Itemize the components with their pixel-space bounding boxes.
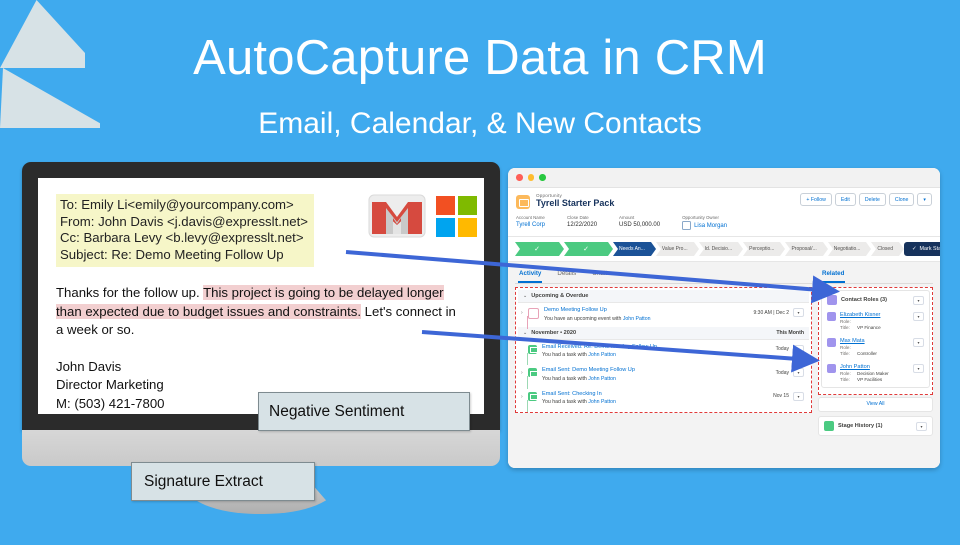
path-stage-6[interactable]: Perceptio... [743, 242, 780, 256]
activity-subtitle-link[interactable]: John Patton [588, 352, 616, 358]
owner-avatar-icon [682, 221, 691, 230]
window-maximize-dot[interactable] [539, 174, 546, 181]
calendar-icon [528, 308, 539, 319]
path-stage-label: ✓ [534, 245, 540, 253]
contact-name[interactable]: Max Mata [840, 338, 913, 345]
related-column: Related Contact Roles (3) ▾ [818, 267, 933, 440]
email-cc-line: Cc: Barbara Levy <b.levy@expresslt.net> [60, 230, 308, 247]
email-body: Thanks for the follow up. This project i… [56, 284, 456, 340]
record-main: Activity Details Chatter ⌄ Upcoming & Ov… [508, 262, 940, 440]
activity-subtitle-link[interactable]: John Patton [588, 399, 616, 405]
activity-subtitle-prefix: You have an upcoming event with [544, 316, 623, 322]
field-amount: Amount USD 50,000.00 [619, 215, 660, 230]
path-stage-label: Proposal/... [791, 246, 816, 252]
chevron-right-icon[interactable]: › [521, 391, 527, 400]
follow-button[interactable]: + Follow [800, 193, 831, 206]
mark-stage-complete-label: Mark Stage as Complete [920, 246, 940, 252]
field-close-date: Close Date 12/22/2020 [567, 215, 597, 230]
tab-activity[interactable]: Activity [518, 267, 542, 283]
chevron-right-icon[interactable]: › [521, 367, 527, 376]
window-titlebar [508, 168, 940, 188]
activity-section-november[interactable]: ⌄ November • 2020 This Month [518, 327, 809, 340]
activity-title[interactable]: Demo Meeting Follow Up [544, 307, 651, 314]
email-subject-line: Subject: Re: Demo Meeting Follow Up [60, 247, 308, 264]
path-stage-8[interactable]: Negotiatio... [828, 242, 867, 256]
row-menu-icon[interactable]: ▾ [793, 308, 804, 317]
path-stage-label: ✓ [583, 245, 589, 253]
activity-timestamp: Today [776, 346, 789, 352]
contact-row[interactable]: Max Mata Role: Title:Controller ▾ [822, 335, 929, 361]
ms-square-red [436, 196, 455, 215]
chevron-right-icon[interactable] [521, 344, 527, 347]
path-stage-label: Negotiatio... [834, 246, 861, 252]
signature-name: John Davis [56, 358, 466, 377]
contact-roles-highlight-box: Contact Roles (3) ▾ Elizabeth Kisner Rol… [818, 287, 933, 395]
opportunity-icon [516, 195, 530, 209]
microsoft-icon [436, 196, 477, 237]
contact-name[interactable]: Elizabeth Kisner [840, 312, 913, 319]
card-menu-icon[interactable]: ▾ [913, 296, 924, 305]
page-title: AutoCapture Data in CRM [0, 30, 960, 86]
negative-sentiment-callout: Negative Sentiment [258, 392, 470, 431]
view-all-card: View All [818, 397, 933, 412]
chevron-down-icon: ⌄ [523, 293, 527, 299]
path-stage-label: Needs An... [619, 246, 645, 252]
stage-history-title: Stage History (1) [838, 423, 882, 429]
contact-roles-card: Contact Roles (3) ▾ Elizabeth Kisner Rol… [821, 290, 930, 388]
contact-title-label: Title: [840, 351, 857, 357]
slide-canvas: AutoCapture Data in CRM Email, Calendar,… [0, 0, 960, 545]
activity-title[interactable]: Email Sent: Checking In [542, 391, 616, 398]
email-body-text-1: Thanks for the follow up. [56, 285, 203, 300]
contact-icon [827, 312, 836, 321]
row-menu-icon[interactable]: ▾ [913, 312, 924, 321]
chevron-down-icon: ⌄ [523, 330, 527, 336]
activity-subtitle-prefix: You had a task with [542, 376, 588, 382]
email-to-line: To: Emily Li<emily@yourcompany.com> [60, 197, 308, 214]
contact-name[interactable]: John Patton [840, 364, 913, 371]
card-menu-icon[interactable]: ▾ [916, 422, 927, 431]
activity-title[interactable]: Email Received: Re: Demo Meeting Follow … [542, 344, 657, 351]
record-header: Opportunity Tyrell Starter Pack + Follow… [508, 188, 940, 237]
row-menu-icon[interactable]: ▾ [913, 338, 924, 347]
activity-title[interactable]: Email Sent: Demo Meeting Follow Up [542, 367, 635, 374]
stage-history-header[interactable]: Stage History (1) ▾ [819, 417, 932, 435]
tab-chatter[interactable]: Chatter [591, 267, 613, 283]
path-stage-5[interactable]: Id. Decisio... [699, 242, 739, 256]
monitor-chin [22, 430, 500, 466]
more-actions-button[interactable]: ▾ [917, 193, 932, 206]
field-value[interactable]: Lisa Morgan [694, 222, 727, 230]
contact-roles-header[interactable]: Contact Roles (3) ▾ [822, 291, 929, 309]
section-right-label: This Month [776, 330, 804, 336]
activity-item[interactable]: › Demo Meeting Follow Up You have an upc… [518, 303, 809, 327]
page-subtitle: Email, Calendar, & New Contacts [0, 107, 960, 141]
salesforce-body: Opportunity Tyrell Starter Pack + Follow… [508, 188, 940, 468]
monitor-bezel: To: Emily Li<emily@yourcompany.com> From… [22, 162, 500, 430]
path-stage-label: Id. Decisio... [705, 246, 733, 252]
related-tabs: Related [818, 267, 933, 284]
path-stage-label: Closed [877, 246, 893, 252]
activity-subtitle-link[interactable]: John Patton [623, 316, 651, 322]
mark-stage-complete-button[interactable]: ✓ Mark Stage as Complete [904, 242, 940, 256]
contact-title-label: Title: [840, 325, 857, 331]
field-opportunity-owner: Opportunity Owner Lisa Morgan [682, 215, 727, 230]
window-minimize-dot[interactable] [528, 174, 535, 181]
contact-icon [827, 295, 837, 305]
contact-row[interactable]: Elizabeth Kisner Role: Title:VP Finance … [822, 309, 929, 335]
record-action-buttons: + Follow Edit Delete Clone ▾ [800, 193, 932, 206]
tab-related[interactable]: Related [821, 267, 845, 283]
timeline-connector [527, 400, 528, 413]
activity-subtitle-link[interactable]: John Patton [588, 376, 616, 382]
activity-subtitle: You had a task with John Patton [542, 352, 657, 359]
record-tabs: Activity Details Chatter [515, 267, 812, 284]
record-title: Tyrell Starter Pack [536, 198, 614, 209]
clone-button[interactable]: Clone [889, 193, 915, 206]
activity-timestamp: 9:30 AM | Dec 2 [754, 310, 789, 316]
ms-square-blue [436, 218, 455, 237]
contact-roles-title: Contact Roles (3) [841, 297, 887, 303]
salesforce-window: Opportunity Tyrell Starter Pack + Follow… [508, 168, 940, 468]
view-all-link[interactable]: View All [819, 398, 932, 411]
signature-extract-callout-label: Signature Extract [144, 473, 263, 491]
email-icon [528, 345, 537, 354]
path-stage-label: Perceptio... [749, 246, 774, 252]
delete-button[interactable]: Delete [859, 193, 886, 206]
path-stage-4[interactable]: Value Pro... [656, 242, 694, 256]
negative-sentiment-callout-label: Negative Sentiment [269, 403, 404, 421]
field-account-name: Account Name Tyrell Corp [516, 215, 545, 230]
activity-subtitle: You had a task with John Patton [542, 399, 616, 406]
chevron-right-icon[interactable]: › [521, 307, 527, 316]
activity-item[interactable]: › Email Sent: Checking In You had a task… [518, 387, 809, 411]
monitor-screen: To: Emily Li<emily@yourcompany.com> From… [38, 178, 484, 414]
row-menu-icon[interactable]: ▾ [793, 345, 804, 354]
email-from-line: From: John Davis <j.davis@expresslt.net> [60, 214, 308, 231]
activity-section-upcoming[interactable]: ⌄ Upcoming & Overdue [518, 290, 809, 303]
row-menu-icon[interactable]: ▾ [793, 368, 804, 377]
contact-icon [827, 364, 836, 373]
section-title: Upcoming & Overdue [531, 293, 588, 299]
activity-item[interactable]: › Email Sent: Demo Meeting Follow Up You… [518, 363, 809, 387]
sales-path: ✓ ✓ Needs An... Value Pro... Id. Decisio… [508, 237, 940, 262]
record-field-row: Account Name Tyrell Corp Close Date 12/2… [516, 215, 932, 230]
path-stage-1[interactable]: ✓ [515, 242, 559, 256]
activity-highlight-box: ⌄ Upcoming & Overdue › Demo Meeting Foll… [515, 287, 812, 413]
signature-extract-callout: Signature Extract [131, 462, 315, 501]
activity-item[interactable]: Email Received: Re: Demo Meeting Follow … [518, 340, 809, 364]
ms-square-green [458, 196, 477, 215]
contact-title-value: VP Finance [857, 325, 881, 331]
field-value[interactable]: Tyrell Corp [516, 221, 545, 229]
tab-details[interactable]: Details [556, 267, 577, 283]
contact-title-value: Controller [857, 351, 877, 357]
path-stage-label: Value Pro... [662, 246, 688, 252]
row-menu-icon[interactable]: ▾ [793, 392, 804, 401]
timeline-connector [527, 316, 528, 329]
email-header-block: To: Emily Li<emily@yourcompany.com> From… [56, 194, 314, 267]
stage-history-card: Stage History (1) ▾ [818, 416, 933, 436]
activity-timestamp: Today [776, 370, 789, 376]
path-stage-9[interactable]: Closed [871, 242, 899, 256]
email-icon [528, 368, 537, 377]
field-value: USD 50,000.00 [619, 221, 660, 229]
contact-row[interactable]: John Patton Role:Decision Maker Title:VP… [822, 361, 929, 387]
row-menu-icon[interactable]: ▾ [913, 364, 924, 373]
activity-subtitle-prefix: You had a task with [542, 352, 588, 358]
path-stage-7[interactable]: Proposal/... [785, 242, 822, 256]
section-title: November • 2020 [531, 330, 576, 336]
gmail-icon [368, 194, 426, 238]
path-stage-3[interactable]: Needs An... [613, 242, 651, 256]
window-close-dot[interactable] [516, 174, 523, 181]
ms-square-yellow [458, 218, 477, 237]
contact-icon [827, 338, 836, 347]
email-icon [528, 392, 537, 401]
contact-title-value: VP Facilities [857, 377, 882, 383]
activity-column: Activity Details Chatter ⌄ Upcoming & Ov… [515, 267, 812, 440]
edit-button[interactable]: Edit [835, 193, 856, 206]
check-icon: ✓ [912, 246, 917, 252]
activity-subtitle: You have an upcoming event with John Pat… [544, 316, 651, 323]
stage-history-icon [824, 421, 834, 431]
contact-title-label: Title: [840, 377, 857, 383]
activity-subtitle-prefix: You had a task with [542, 399, 588, 405]
path-stage-2[interactable]: ✓ [564, 242, 608, 256]
field-value: 12/22/2020 [567, 221, 597, 229]
activity-subtitle: You had a task with John Patton [542, 376, 635, 383]
activity-timestamp: Nov 15 [773, 393, 789, 399]
